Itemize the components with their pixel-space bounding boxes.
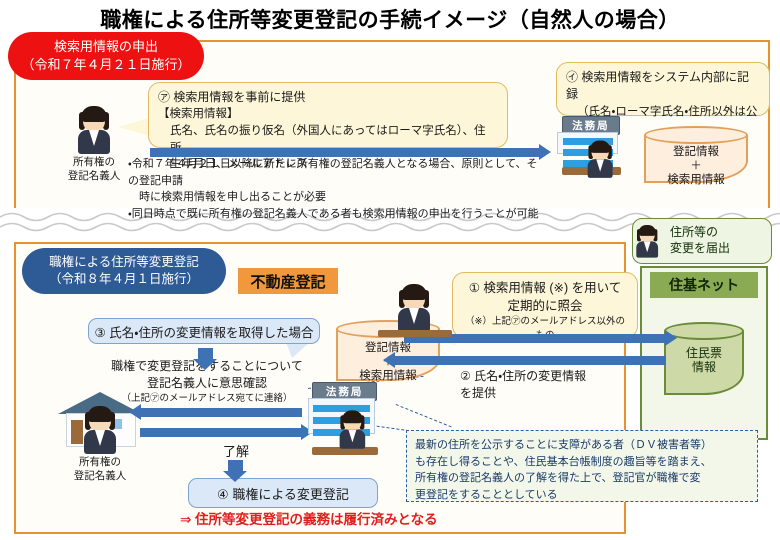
callout-record-info: ㋑ 検索用情報をシステム内部に記録 （氏名・ローマ字氏名・住所以外は公示さ れな… <box>556 62 770 116</box>
callout-provide-info: ㋐ 検索用情報を事前に提供 【検索用情報】 氏名、氏名の振り仮名（外国人にあって… <box>148 82 508 148</box>
label-result: ⇒ 住所等変更登記の義務は履行済みとなる <box>180 510 600 530</box>
jukinet-label: 住基ネット <box>650 272 758 298</box>
owner-person-top: 所有権の 登記名義人 <box>78 108 110 156</box>
tag-real-estate-registration: 不動産登記 <box>238 268 338 294</box>
registrar-bottom <box>342 412 363 442</box>
clerk-top <box>590 142 610 172</box>
registrar-desk <box>378 330 452 337</box>
label-confirm-intent-line2: 登記名義人に意思確認 <box>100 375 314 392</box>
owner-person-bottom-label: 所有権の 登記名義人 <box>68 456 132 483</box>
registrar-desk-person <box>398 286 430 332</box>
callout-step1-line2: 定期的に照会 <box>462 297 628 315</box>
arrow-step3-down <box>198 348 213 360</box>
house-door <box>71 420 83 444</box>
note-dv-consideration: 最新の住所を公示することに支障がある者（ＤＶ被害者等） も存在し得ることや、住民… <box>406 430 758 502</box>
callout-step3: ③ 氏名・住所の変更情報を取得した場合 <box>88 318 320 344</box>
note-dv-line4: 更登記をすることとしている <box>415 487 749 504</box>
badge-address-change-report-text: 住所等の 変更を届出 <box>670 225 730 256</box>
badge-ex-officio-line2: （令和８年４月１日施行） <box>49 271 199 288</box>
legal-bureau-top: 法務局 <box>556 116 628 180</box>
badge-application-line1: 検索用情報の申出 <box>54 38 158 56</box>
callout-provide-info-tail <box>118 118 150 136</box>
callout-provide-info-heading: ㋐ 検索用情報を事前に提供 <box>158 89 498 106</box>
note-application-line2: 時に検索用情報を申し出ることが必要 <box>128 189 548 206</box>
arrow-apply-to-bureau <box>150 148 540 157</box>
note-application-line3: ・同日時点で既に所有権の登記名義人である者も検索用情報の申出を行うことが可能 <box>128 206 548 223</box>
page-title: 職権による住所等変更登記の手続イメージ（自然人の場合） <box>0 4 780 34</box>
callout-record-info-heading: ㋑ 検索用情報をシステム内部に記録 <box>566 69 760 104</box>
note-dv-line2: も存在し得ることや、住民基本台帳制度の趣旨等を踏まえ、 <box>415 454 749 471</box>
arrow-contact-owner <box>140 408 302 417</box>
callout-provide-info-line1: 【検索用情報】 <box>158 106 498 123</box>
arrow-step2-provide <box>394 356 666 365</box>
diagram-root: 職権による住所等変更登記の手続イメージ（自然人の場合） 検索用情報の申出 （令和… <box>0 0 780 540</box>
badge-ex-officio-line1: 職権による住所等変更登記 <box>49 254 199 271</box>
badge-application-line2: （令和７年４月２１日施行） <box>21 56 190 74</box>
badge-application: 検索用情報の申出 （令和７年４月２１日施行） <box>8 32 204 80</box>
db-registry-top-label: 登記情報 ＋ 検索用情報 <box>644 146 748 187</box>
note-application: ・令和７年４月２１日以降に新たに所有権の登記名義人となる場合、原則として、その登… <box>128 156 548 222</box>
note-application-line1: ・令和７年４月２１日以降に新たに所有権の登記名義人となる場合、原則として、その登… <box>128 156 548 189</box>
callout-step4: ④ 職権による変更登記 <box>188 478 378 508</box>
arrow-owner-consent <box>140 428 302 437</box>
owner-person-bottom: 所有権の 登記名義人 <box>84 408 116 456</box>
resident-person <box>637 226 657 253</box>
callout-step1: ① 検索用情報 (※) を用いて 定期的に照会 （※）上記㋐のメールアドレス以外… <box>452 272 638 338</box>
note-dv-line1: 最新の住所を公示することに支障がある者（ＤＶ被害者等） <box>415 437 749 454</box>
label-consent: 了解 <box>196 442 276 462</box>
note-dv-line3: 所有権の登記名義人の了解を得た上で、登記官が職権で変 <box>415 470 749 487</box>
db-resident-record-label: 住民票 情報 <box>664 346 744 375</box>
callout-step1-line1: ① 検索用情報 (※) を用いて <box>462 279 628 297</box>
label-step2-line1: ② 氏名・住所の変更情報 <box>460 368 620 385</box>
badge-address-change-report: 住所等の 変更を届出 <box>632 218 772 264</box>
label-step2: ② 氏名・住所の変更情報 を提供 <box>460 368 620 403</box>
arrow-consent-down <box>228 460 243 472</box>
db-registry-top: 登記情報 ＋ 検索用情報 <box>644 126 748 184</box>
legal-bureau-bottom: 法務局 <box>306 382 386 460</box>
label-step2-line2: を提供 <box>460 385 620 402</box>
owner-person-top-label: 所有権の 登記名義人 <box>62 156 126 183</box>
callout-step3-tail <box>286 342 310 358</box>
person-hair <box>81 106 107 122</box>
badge-ex-officio: 職権による住所等変更登記 （令和８年４月１日施行） <box>22 248 226 294</box>
window-row <box>313 405 369 412</box>
